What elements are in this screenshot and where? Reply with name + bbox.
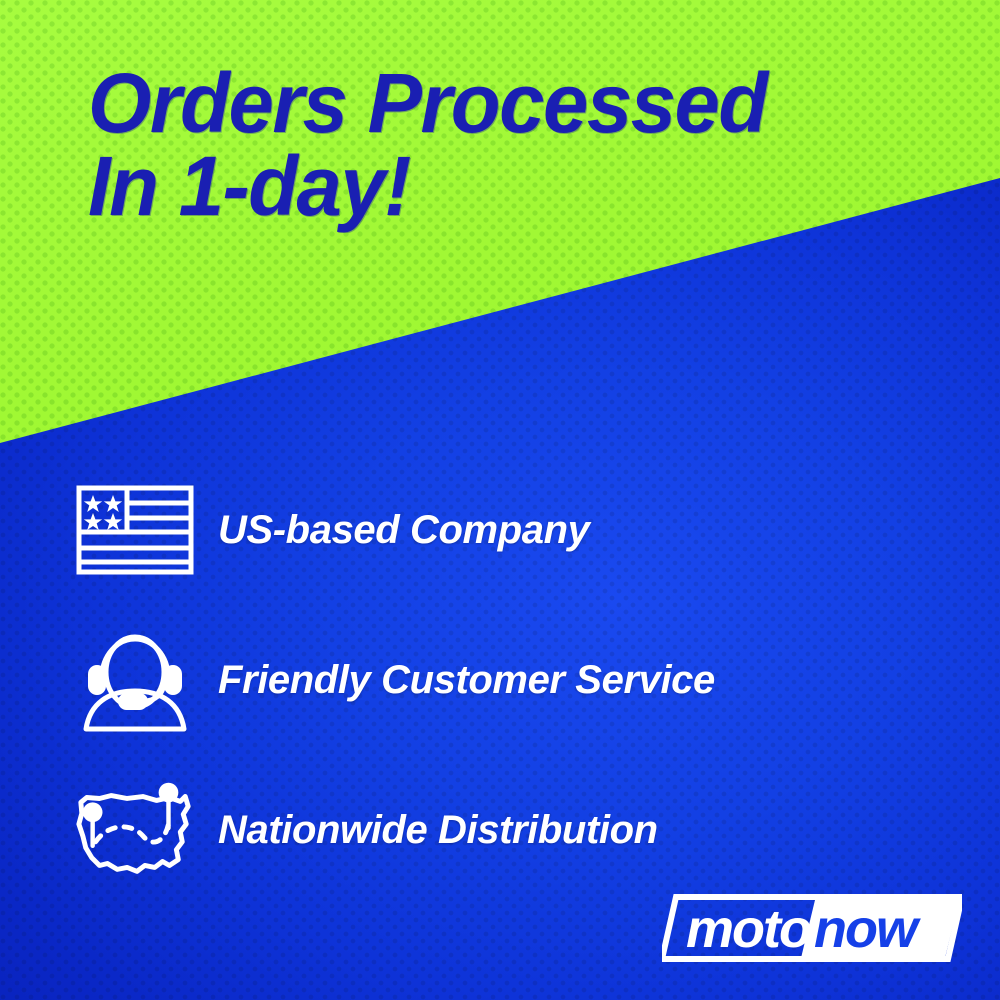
us-flag-icon <box>70 470 200 590</box>
headset-agent-icon <box>70 620 200 740</box>
feature-item-nationwide: Nationwide Distribution <box>0 755 1000 905</box>
feature-label: US-based Company <box>218 508 589 553</box>
logo-text-now: now <box>814 899 921 959</box>
promo-graphic: Orders Processed In 1-day! <box>0 0 1000 1000</box>
us-map-pins-icon <box>70 770 200 890</box>
headline: Orders Processed In 1-day! <box>88 62 942 228</box>
feature-label: Nationwide Distribution <box>218 808 658 853</box>
logo-text-moto: moto <box>686 899 811 959</box>
feature-list: US-based Company <box>0 455 1000 905</box>
motonow-logo[interactable]: moto now <box>662 893 962 963</box>
feature-label: Friendly Customer Service <box>218 658 715 703</box>
feature-item-us-based: US-based Company <box>0 455 1000 605</box>
feature-item-customer-service: Friendly Customer Service <box>0 605 1000 755</box>
